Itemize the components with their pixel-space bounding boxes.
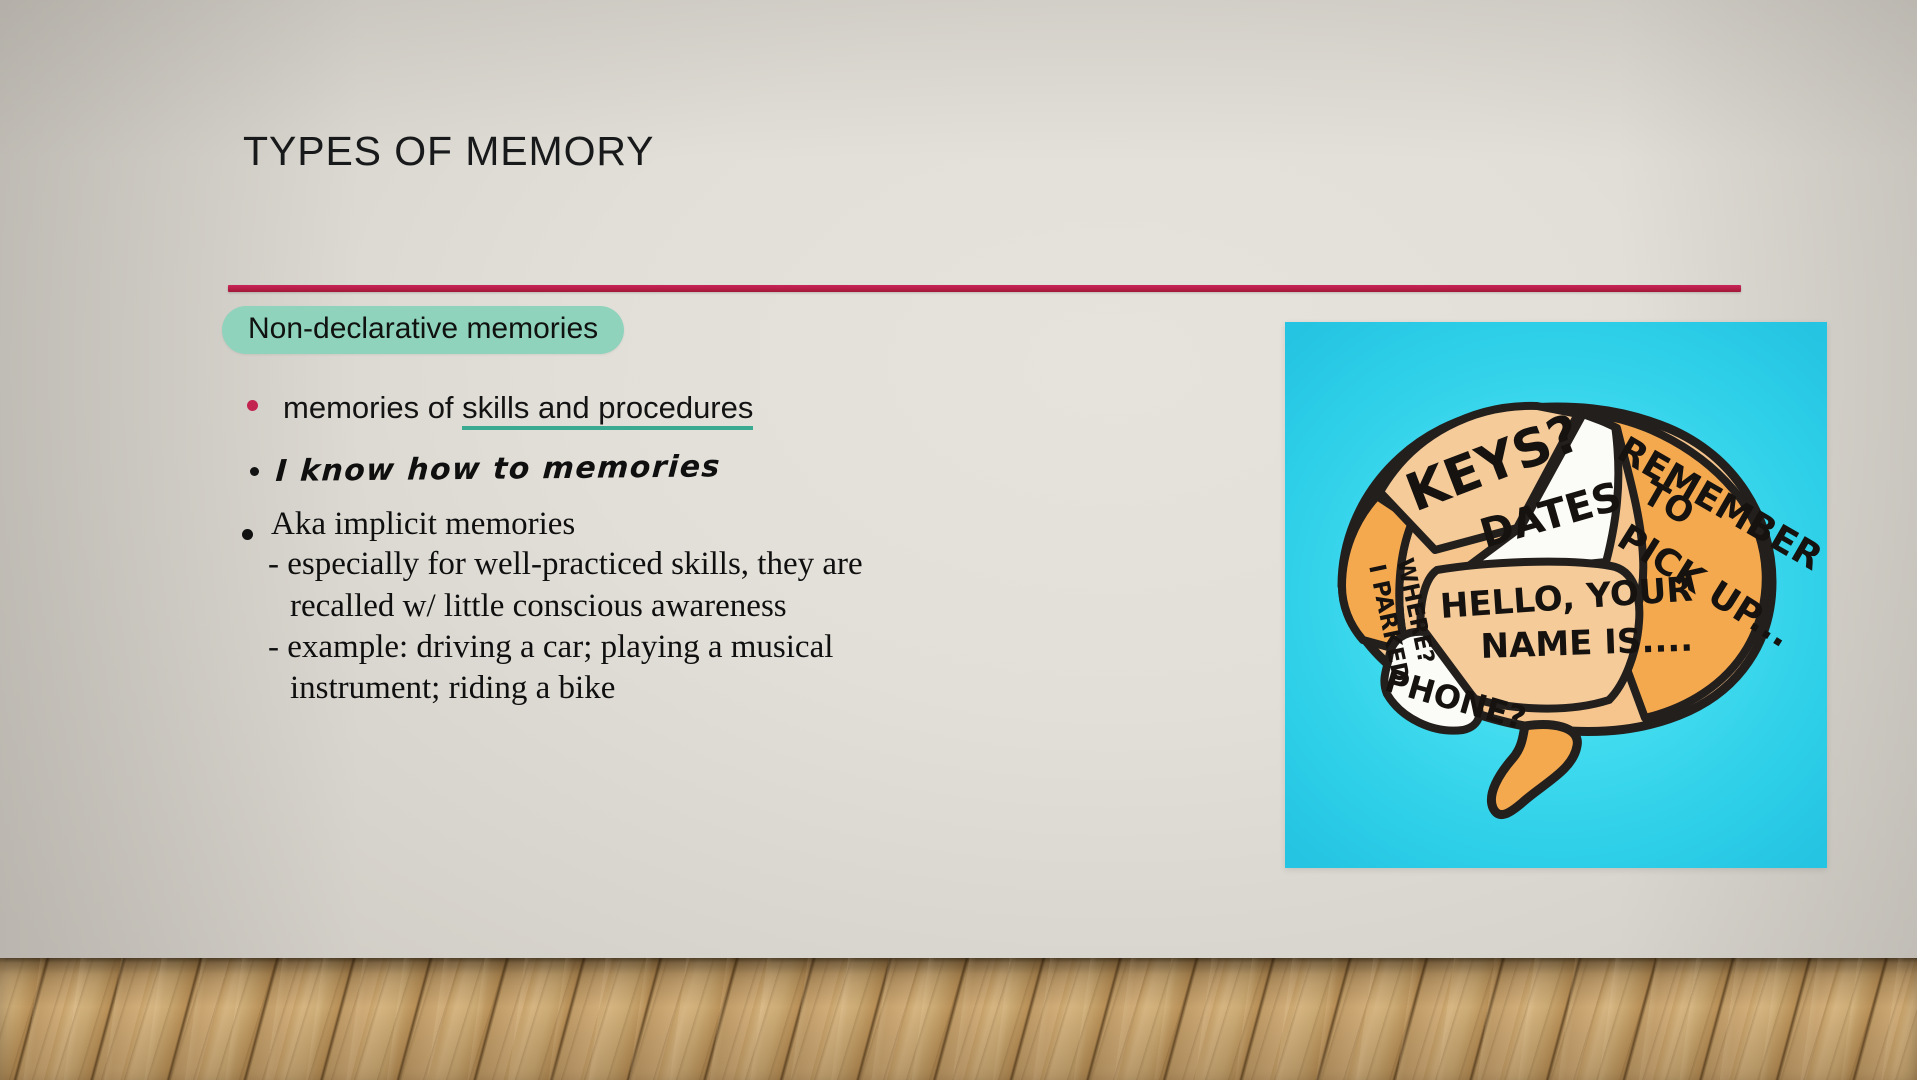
slide-body-content: Non-declarative memories memories of ski… [222, 306, 1232, 709]
brain-diagram-svg: KEYS? DATES REMEMBER TO PICK UP... I PAR… [1285, 322, 1827, 868]
bullet-item-handwritten: I know how to memories [222, 444, 1232, 491]
brain-label-nameis: NAME IS.... [1480, 620, 1694, 667]
sub-bullet-wellpracticed-line1: - especially for well-practiced skills, … [268, 546, 863, 582]
brain-illustration: KEYS? DATES REMEMBER TO PICK UP... I PAR… [1285, 322, 1827, 868]
sub-bullet-wellpracticed-line2: recalled w/ little conscious awareness [312, 586, 787, 627]
bullet-text-implicit: Aka implicit memories [271, 504, 575, 544]
floor-shadow-overlay [0, 958, 1917, 1080]
floor-grain-overlay [0, 958, 1917, 1080]
sub-bullet-example-line1: - example: driving a car; playing a musi… [268, 629, 833, 665]
sub-bullet-wellpracticed: - especially for well-practiced skills, … [290, 544, 1232, 627]
bullet-dot-icon [250, 467, 259, 476]
bullet-text-handwritten: I know how to memories [275, 439, 723, 490]
bullet-dot-icon [242, 529, 253, 540]
bullet-item-skills: memories of skills and procedures [222, 380, 1232, 428]
brain-stem [1491, 725, 1577, 815]
bullet-dot-icon [247, 400, 258, 411]
floor-wood [0, 958, 1917, 1080]
bullet-item-implicit: Aka implicit memories [222, 504, 1232, 544]
bullet-text-skills-underlined: skills and procedures [462, 390, 753, 430]
slide-root: TYPES OF MEMORY Non-declarative memories… [0, 0, 1917, 1080]
page-title: TYPES OF MEMORY [243, 128, 654, 175]
sub-bullet-example: - example: driving a car; playing a musi… [290, 627, 1232, 710]
title-divider-rule [228, 285, 1741, 292]
bullet-text-skills-prefix: memories of [283, 390, 462, 425]
section-heading-row: Non-declarative memories [222, 306, 1232, 364]
sub-bullet-example-line2: instrument; riding a bike [312, 668, 615, 709]
bullet-text-skills: memories of skills and procedures [283, 380, 753, 428]
section-heading-pill: Non-declarative memories [222, 306, 624, 354]
